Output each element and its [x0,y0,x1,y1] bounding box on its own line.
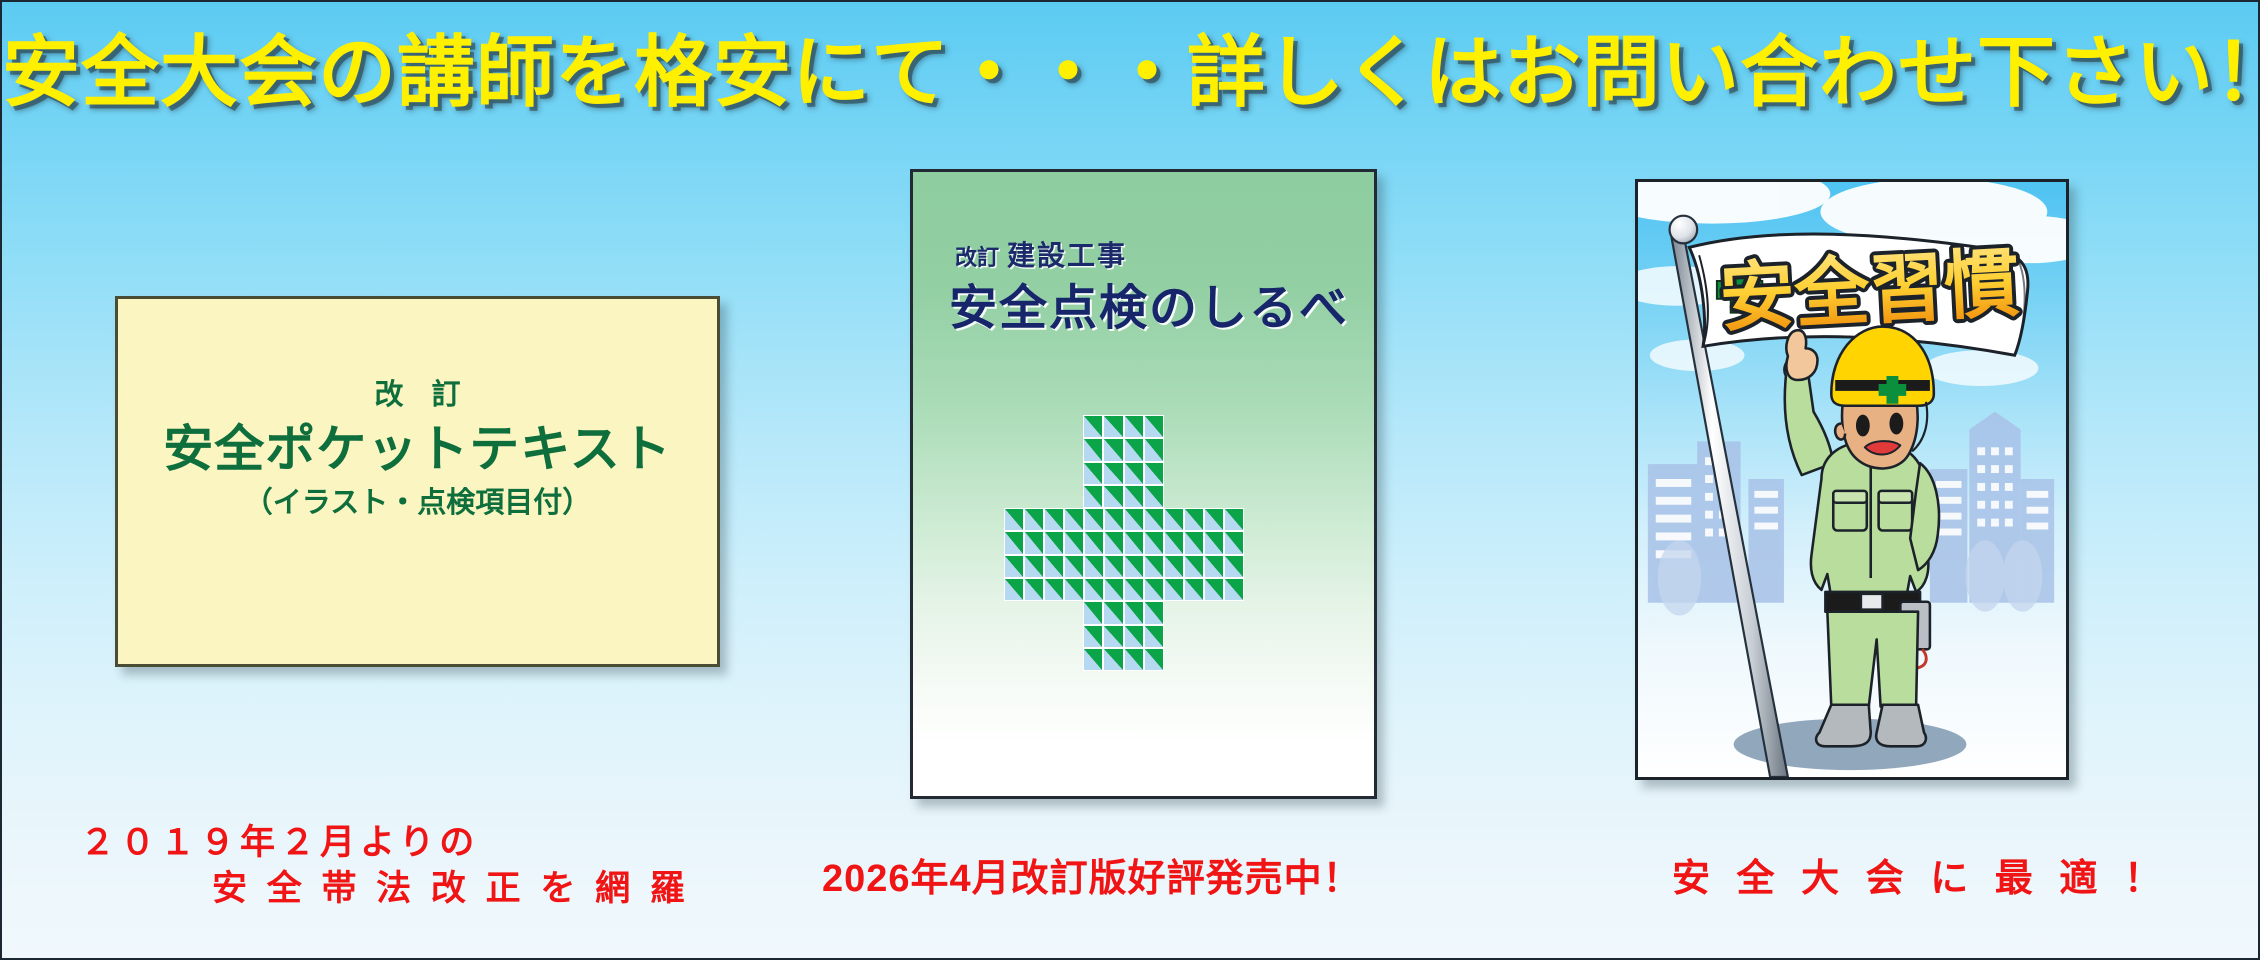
book-cover-anzen-tenken[interactable]: 改訂建設工事 安全点検のしるべ [910,169,1377,799]
cross-emblem-tile [1204,555,1224,578]
page-headline: 安全大会の講師を格安にて・・・詳しくはお問い合わせ下さい！ [2,24,2260,122]
cross-emblem-row [1004,531,1284,554]
cross-emblem-gap [1023,415,1043,438]
cross-emblem-gap [1004,415,1024,438]
cross-emblem-gap [1224,415,1244,438]
cross-emblem-gap [1264,531,1284,554]
cross-emblem-gap [1244,601,1264,624]
cross-emblem-gap [1023,648,1043,671]
cross-emblem-tile [1164,531,1184,554]
cross-emblem-tile [1144,531,1164,554]
cross-emblem-gap [1004,485,1024,508]
cross-emblem-tile [1204,531,1224,554]
book-cover-pocket-text[interactable]: 改 訂 安全ポケットテキスト （イラスト・点検項目付） [115,296,720,667]
cross-emblem-gap [1164,648,1184,671]
cross-emblem-tile [1083,485,1103,508]
cross-emblem-tile [1124,625,1144,648]
cross-emblem-tile [1103,625,1123,648]
cross-emblem-gap [1043,601,1063,624]
cross-emblem-gap [1164,415,1184,438]
cross-emblem-tile [1064,508,1084,531]
cross-emblem-gap [1184,438,1204,461]
cross-emblem-gap [1023,601,1043,624]
cross-emblem-tile [1064,531,1084,554]
cross-emblem-tile [1124,438,1144,461]
cross-emblem-gap [1224,462,1244,485]
cross-emblem-tile [1204,578,1224,601]
cross-emblem-tile [1084,508,1104,531]
cross-emblem-gap [1043,462,1063,485]
cross-emblem-row [1004,578,1284,601]
cross-emblem-tile [1064,578,1084,601]
cross-emblem-tile [1104,508,1124,531]
cross-emblem-row [1004,648,1284,671]
cross-emblem-gap [1224,485,1244,508]
cross-emblem-gap [1184,415,1204,438]
poster-illustration: 安全習慣 [1638,182,2066,777]
cross-emblem-gap [1244,485,1264,508]
cross-emblem-gap [1004,625,1024,648]
cross-emblem-gap [1004,438,1024,461]
cross-emblem-gap [1164,625,1184,648]
cross-emblem-gap [1244,531,1264,554]
cross-emblem-gap [1063,601,1083,624]
book2-title: 安全点検のしるべ [949,268,1349,338]
cross-emblem-gap [1063,625,1083,648]
caption-anzen-tenken: 2026年4月改訂版好評発売中！ [822,854,1362,904]
cross-emblem-tile [1084,531,1104,554]
cross-emblem-tile [1064,555,1084,578]
cross-emblem-tile [1144,415,1164,438]
cross-emblem-gap [1063,485,1083,508]
cross-emblem-gap [1224,648,1244,671]
cross-emblem-tile [1124,555,1144,578]
cross-emblem-gap [1204,462,1224,485]
cross-emblem-gap [1264,508,1284,531]
cross-emblem-tile [1144,462,1164,485]
cross-emblem-gap [1184,625,1204,648]
caption-pocket-text-line2: 安 全 帯 法 改 正 を 網 羅 [80,866,690,912]
cross-emblem-tile [1184,508,1204,531]
caption-pocket-text-line1: ２０１９年２月よりの [80,820,690,866]
cross-emblem-tile [1044,578,1064,601]
cross-emblem-tile [1124,462,1144,485]
cross-emblem-tile [1184,578,1204,601]
cross-emblem-tile [1084,578,1104,601]
cross-emblem-tile [1044,508,1064,531]
poster-anzen-shukan[interactable]: 安全習慣 [1635,179,2069,780]
cross-emblem-tile [1164,555,1184,578]
cross-emblem-row [1004,415,1284,438]
cross-emblem-tile [1144,555,1164,578]
cross-emblem-gap [1224,601,1244,624]
cross-emblem-tile [1083,601,1103,624]
cross-emblem-gap [1224,438,1244,461]
cross-emblem-tile [1004,508,1024,531]
cross-emblem-tile [1164,508,1184,531]
cross-emblem-gap [1204,648,1224,671]
cross-emblem-gap [1264,601,1284,624]
cross-emblem-tile [1103,485,1123,508]
cross-emblem-tile [1224,531,1244,554]
cross-emblem-tile [1124,485,1144,508]
cross-emblem-tile [1103,462,1123,485]
cross-emblem-tile [1024,531,1044,554]
cross-emblem-gap [1164,485,1184,508]
cross-emblem-gap [1244,625,1264,648]
cross-emblem-gap [1043,415,1063,438]
cross-emblem-tile [1144,648,1164,671]
cross-emblem-gap [1063,648,1083,671]
cross-emblem-tile [1083,625,1103,648]
cross-emblem-tile [1083,438,1103,461]
cross-emblem-gap [1063,462,1083,485]
cross-emblem-tile [1084,555,1104,578]
cross-emblem-tile [1124,415,1144,438]
cross-emblem-row [1004,555,1284,578]
cross-emblem-gap [1043,648,1063,671]
cross-emblem-row [1004,625,1284,648]
cross-emblem-tile [1024,578,1044,601]
cross-emblem-tile [1024,555,1044,578]
cross-emblem-tile [1104,578,1124,601]
cross-emblem-tile [1103,601,1123,624]
cross-emblem-tile [1124,531,1144,554]
cross-emblem-tile [1204,508,1224,531]
cross-emblem-gap [1264,415,1284,438]
cross-emblem-tile [1144,485,1164,508]
cross-emblem-gap [1204,415,1224,438]
cross-emblem-tile [1083,415,1103,438]
cross-emblem-tile [1224,555,1244,578]
cross-emblem-gap [1043,625,1063,648]
cross-emblem-gap [1184,462,1204,485]
cross-emblem-gap [1184,601,1204,624]
green-cross-emblem-icon [1004,415,1284,671]
cross-emblem-tile [1124,508,1144,531]
caption-pocket-text: ２０１９年２月よりの 安 全 帯 法 改 正 を 網 羅 [80,820,690,912]
cross-emblem-row [1004,485,1284,508]
cross-emblem-gap [1224,625,1244,648]
cross-emblem-gap [1244,648,1264,671]
cross-emblem-gap [1164,601,1184,624]
cross-emblem-gap [1164,438,1184,461]
cross-emblem-tile [1164,578,1184,601]
cross-emblem-gap [1204,438,1224,461]
cross-emblem-gap [1004,462,1024,485]
cross-emblem-tile [1124,601,1144,624]
cross-emblem-gap [1264,462,1284,485]
cross-emblem-tile [1083,462,1103,485]
cross-emblem-gap [1244,508,1264,531]
cross-emblem-gap [1043,485,1063,508]
book1-title: 安全ポケットテキスト [118,421,717,477]
cross-emblem-gap [1023,485,1043,508]
cross-emblem-gap [1204,485,1224,508]
cross-emblem-tile [1144,601,1164,624]
caption-anzen-shukan: 安 全 大 会 に 最 適 ！ [1672,854,2170,904]
promo-banner: 安全大会の講師を格安にて・・・詳しくはお問い合わせ下さい！ 改 訂 安全ポケット… [0,0,2260,960]
cross-emblem-gap [1004,648,1024,671]
cross-emblem-gap [1264,648,1284,671]
cross-emblem-tile [1104,531,1124,554]
cross-emblem-gap [1264,555,1284,578]
cross-emblem-tile [1103,438,1123,461]
cross-emblem-tile [1124,578,1144,601]
book1-subtitle: （イラスト・点検項目付） [118,479,717,521]
cross-emblem-gap [1023,462,1043,485]
cross-emblem-tile [1103,648,1123,671]
cross-emblem-gap [1204,601,1224,624]
cross-emblem-gap [1204,625,1224,648]
cross-emblem-gap [1264,438,1284,461]
flag-banner-text: 安全習慣 [1718,241,2022,341]
cross-emblem-gap [1063,415,1083,438]
cross-emblem-gap [1184,648,1204,671]
cross-emblem-row [1004,601,1284,624]
cross-emblem-gap [1023,438,1043,461]
book1-edition-label: 改 訂 [118,371,717,413]
cross-emblem-gap [1264,625,1284,648]
cross-emblem-row [1004,462,1284,485]
cross-emblem-gap [1184,485,1204,508]
cross-emblem-tile [1184,531,1204,554]
cross-emblem-tile [1144,438,1164,461]
cross-emblem-gap [1244,555,1264,578]
cross-emblem-tile [1224,508,1244,531]
cross-emblem-gap [1244,438,1264,461]
cross-emblem-tile [1144,625,1164,648]
cross-emblem-tile [1224,578,1244,601]
cross-emblem-tile [1044,555,1064,578]
cross-emblem-gap [1023,625,1043,648]
book2-edition-label: 改訂 [955,245,999,270]
cross-emblem-row [1004,508,1284,531]
cross-emblem-tile [1044,531,1064,554]
cross-emblem-gap [1043,438,1063,461]
cross-emblem-gap [1004,601,1024,624]
cross-emblem-tile [1083,648,1103,671]
cross-emblem-gap [1164,462,1184,485]
cross-emblem-gap [1264,578,1284,601]
cross-emblem-tile [1004,531,1024,554]
cross-emblem-tile [1124,648,1144,671]
cross-emblem-tile [1004,555,1024,578]
cross-emblem-gap [1264,485,1284,508]
cross-emblem-gap [1063,438,1083,461]
cross-emblem-gap [1244,462,1264,485]
cross-emblem-tile [1184,555,1204,578]
cross-emblem-tile [1103,415,1123,438]
cross-emblem-tile [1144,508,1164,531]
book2-series-label: 建設工事 [1007,240,1127,271]
cross-emblem-row [1004,438,1284,461]
cross-emblem-tile [1144,578,1164,601]
cross-emblem-tile [1104,555,1124,578]
cross-emblem-gap [1244,578,1264,601]
cross-emblem-tile [1004,578,1024,601]
cross-emblem-tile [1024,508,1044,531]
cross-emblem-gap [1244,415,1264,438]
book1-text-block: 改 訂 安全ポケットテキスト （イラスト・点検項目付） [118,371,717,521]
